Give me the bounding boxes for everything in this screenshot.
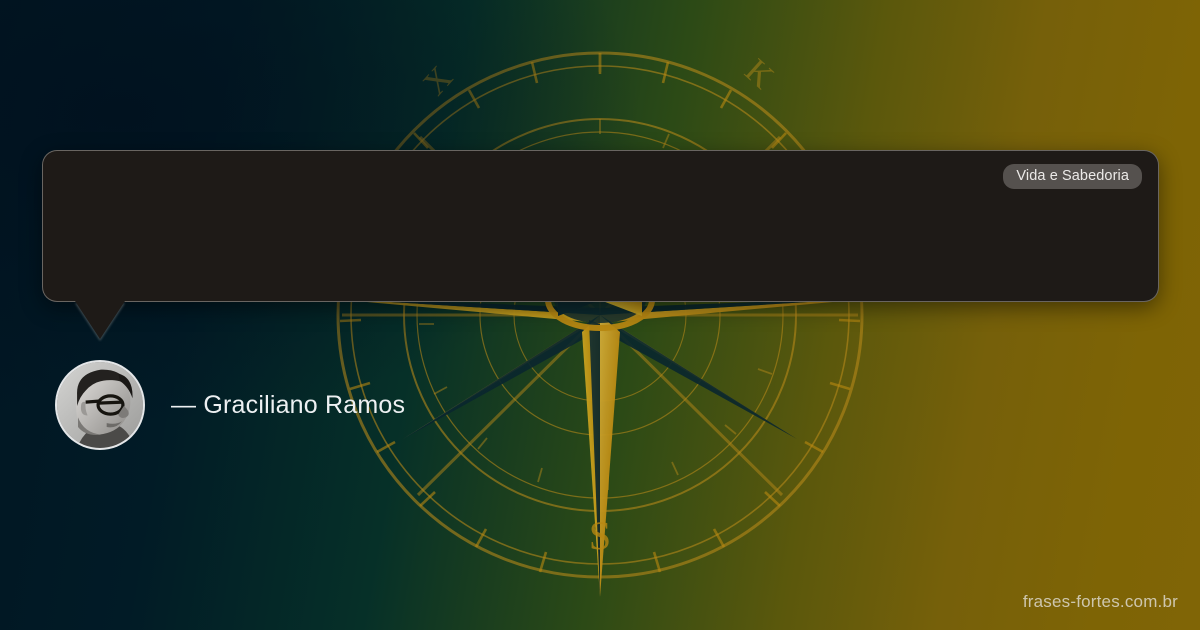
compass-ticks-outer — [340, 53, 860, 577]
compass-numeral-left: X — [416, 59, 460, 102]
quote-card: Vida e Sabedoria — [42, 150, 1159, 302]
category-badge[interactable]: Vida e Sabedoria — [1003, 164, 1142, 189]
author-name: — Graciliano Ramos — [171, 391, 405, 420]
compass-rose-artwork: S K X E W — [300, 12, 900, 612]
compass-label-south: S — [589, 513, 611, 558]
avatar — [55, 360, 145, 450]
speech-bubble-tail — [75, 301, 125, 339]
author-row: — Graciliano Ramos — [55, 360, 405, 450]
compass-rings — [338, 53, 862, 577]
compass-numeral-right: K — [738, 52, 781, 96]
site-watermark: frases-fortes.com.br — [1023, 592, 1178, 612]
poster-canvas: S K X E W Vida e Sabedoria “ Assim me ed… — [0, 0, 1200, 630]
